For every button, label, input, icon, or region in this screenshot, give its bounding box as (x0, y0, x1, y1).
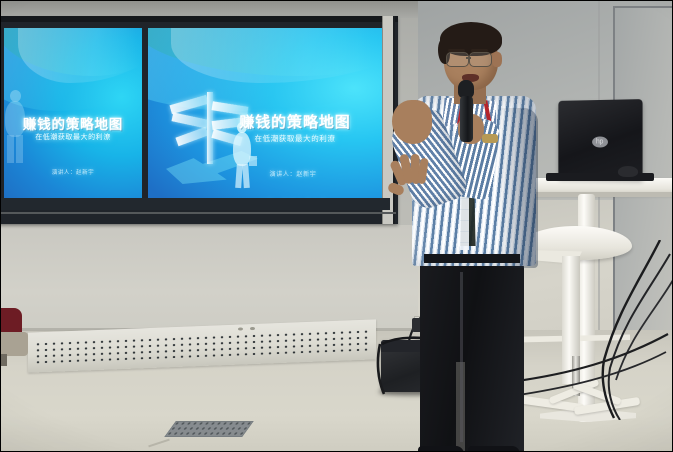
slide-right-title: 赚钱的策略地图 (208, 111, 382, 132)
red-chair (0, 308, 32, 366)
trouser-crease (460, 272, 463, 442)
glasses-lens-left (446, 52, 469, 67)
wristwatch (482, 134, 498, 143)
photo-scene: 赚钱的策略地图 在低潮获取最大的利潦 演讲人：赵新宇 二〇一〇年六月十日 (0, 0, 673, 452)
laptop-base (546, 173, 654, 181)
grille-perforations (34, 329, 370, 364)
trousers (420, 258, 524, 452)
slide-right: 赚钱的策略地图 在低潮获取最大的利潦 演讲人：赵新宇 二〇一〇年六月十日 (148, 28, 382, 200)
slide-swoosh-3 (18, 28, 142, 83)
hand-left-gesturing (392, 100, 432, 144)
screen-bezel-bottom (0, 198, 390, 210)
glasses-bridge (466, 57, 471, 59)
belt (424, 254, 520, 263)
screen-trim (0, 212, 396, 214)
hp-logo-icon: hp (592, 137, 608, 148)
slide-right-presenter: 演讲人：赵新宇 (206, 169, 380, 178)
slide-left-presenter: 演讲人：赵新宇 (4, 168, 142, 176)
slide-left-title: 赚钱的策略地图 (4, 113, 142, 133)
glasses-lens-right (469, 52, 492, 67)
presenter (396, 22, 556, 452)
shoe-left (418, 446, 464, 452)
slide-left-subtitle: 在低潮获取最大的利潦 (4, 132, 142, 142)
mouse[interactable] (618, 166, 638, 177)
slide-swoosh-2 (148, 28, 382, 76)
slide-swoosh-2 (4, 28, 142, 76)
slide-right-subtitle: 在低潮获取最大的利潦 (208, 133, 382, 144)
shirt-shadow (496, 108, 538, 268)
slide-swoosh-3 (171, 28, 382, 83)
screen-bezel-top (0, 16, 398, 22)
shoe-right (468, 446, 520, 452)
slide-left: 赚钱的策略地图 在低潮获取最大的利潦 演讲人：赵新宇 二〇一〇年六月十日 (4, 28, 142, 200)
ear (492, 52, 502, 67)
microphone-body[interactable] (460, 96, 473, 142)
floor-vent (164, 421, 254, 437)
